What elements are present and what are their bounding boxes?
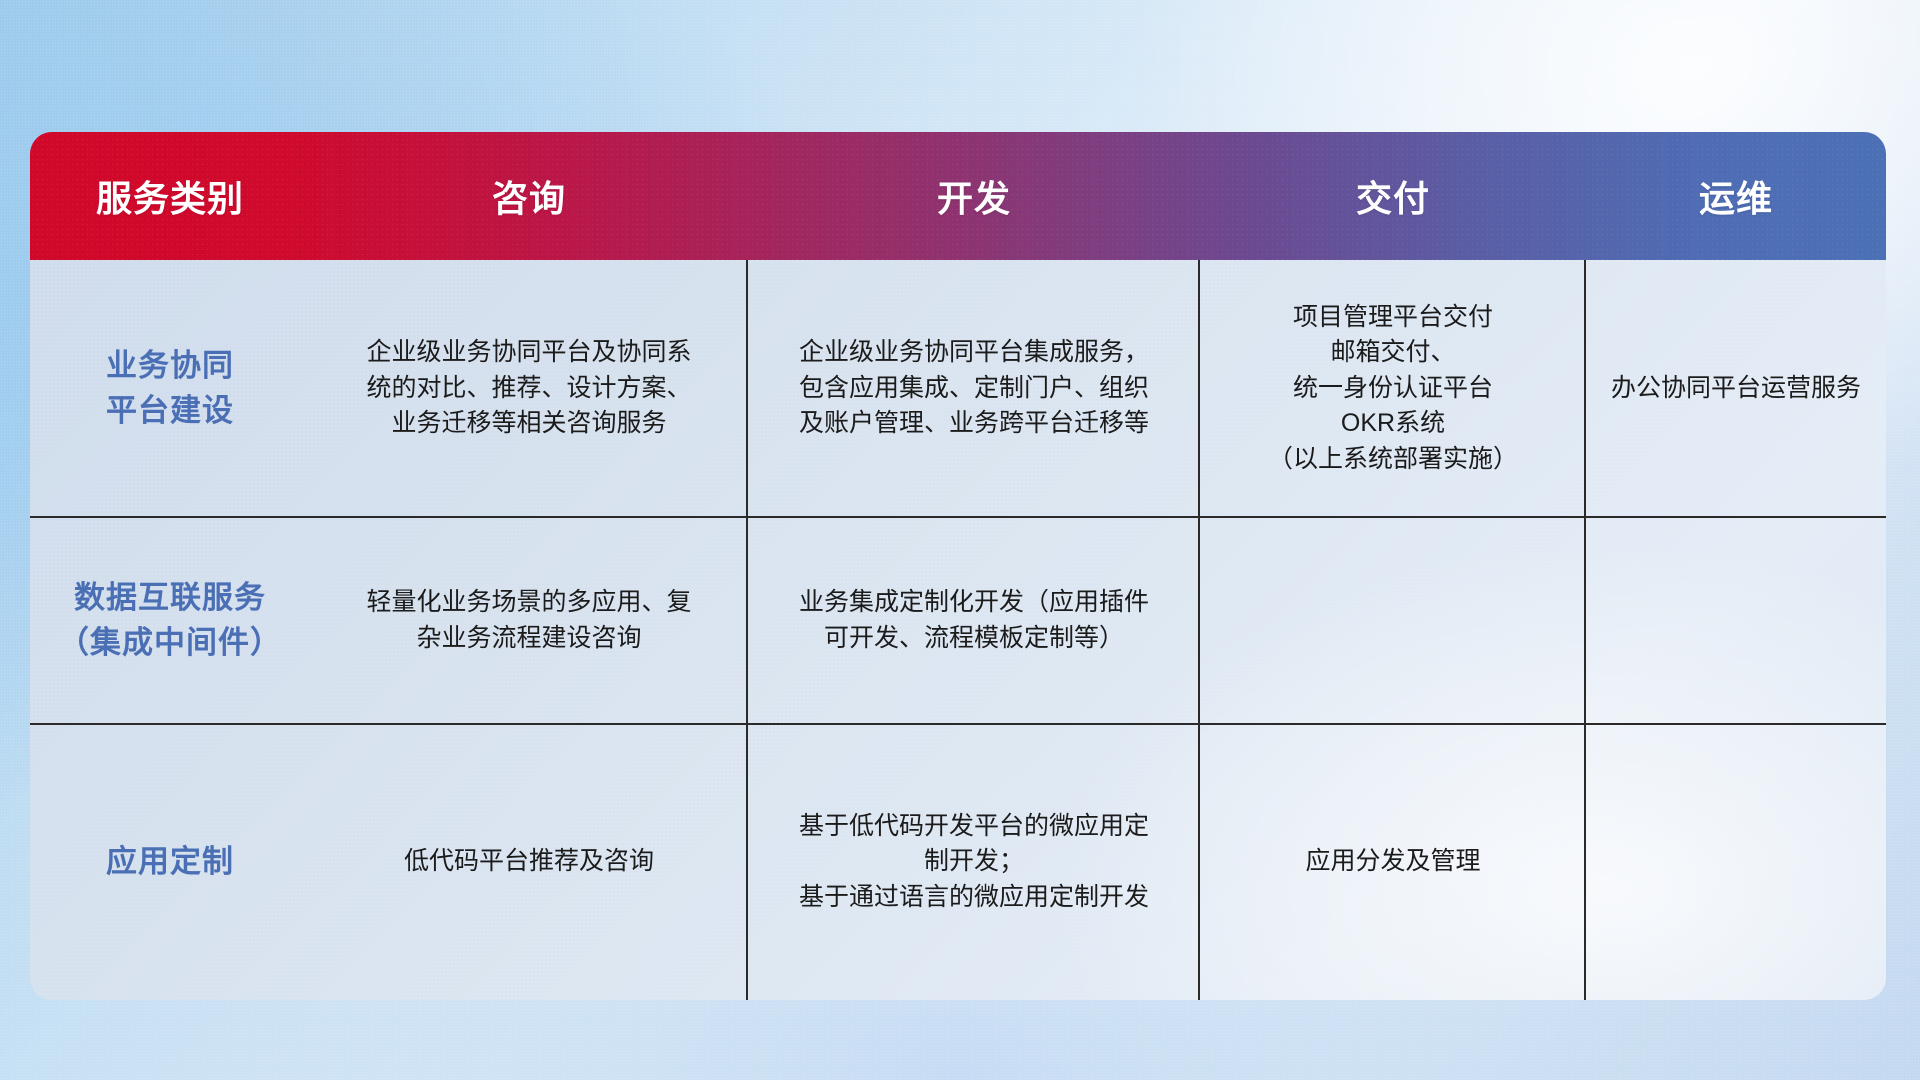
cell-operations — [1586, 517, 1886, 724]
table-row: 应用定制 低代码平台推荐及咨询 基于低代码开发平台的微应用定 制开发； 基于通过… — [30, 724, 1886, 1000]
cell-development: 基于低代码开发平台的微应用定 制开发； 基于通过语言的微应用定制开发 — [748, 724, 1200, 1000]
table-body: 业务协同 平台建设 企业级业务协同平台及协同系 统的对比、推荐、设计方案、 业务… — [30, 260, 1886, 1000]
table-header-row: 服务类别 咨询 开发 交付 运维 — [30, 132, 1886, 260]
cell-development: 业务集成定制化开发（应用插件 可开发、流程模板定制等） — [748, 517, 1200, 724]
column-divider-3 — [1584, 260, 1586, 1000]
table-row: 业务协同 平台建设 企业级业务协同平台及协同系 统的对比、推荐、设计方案、 业务… — [30, 260, 1886, 517]
cell-delivery: 应用分发及管理 — [1200, 724, 1586, 1000]
row-divider-2 — [30, 723, 1886, 725]
column-header-consulting: 咨询 — [310, 170, 748, 222]
column-divider-2 — [1198, 260, 1200, 1000]
row-label-text: 数据互联服务 （集成中间件） — [58, 576, 282, 666]
row-label-text: 应用定制 — [106, 840, 234, 885]
cell-consulting: 企业级业务协同平台及协同系 统的对比、推荐、设计方案、 业务迁移等相关咨询服务 — [310, 260, 748, 517]
row-label-cell: 业务协同 平台建设 — [30, 260, 310, 517]
column-header-delivery: 交付 — [1200, 170, 1586, 222]
table-row: 数据互联服务 （集成中间件） 轻量化业务场景的多应用、复 杂业务流程建设咨询 业… — [30, 517, 1886, 724]
cell-operations — [1586, 724, 1886, 1000]
cell-consulting: 低代码平台推荐及咨询 — [310, 724, 748, 1000]
cell-operations: 办公协同平台运营服务 — [1586, 260, 1886, 517]
cell-delivery — [1200, 517, 1586, 724]
service-matrix-table: 服务类别 咨询 开发 交付 运维 业务协同 平台建设 企业级业务协同平台及协同系… — [30, 132, 1886, 1000]
cell-development: 企业级业务协同平台集成服务， 包含应用集成、定制门户、组织 及账户管理、业务跨平… — [748, 260, 1200, 517]
cell-delivery: 项目管理平台交付 邮箱交付、 统一身份认证平台 OKR系统 （以上系统部署实施） — [1200, 260, 1586, 517]
column-header-development: 开发 — [748, 170, 1200, 222]
cell-consulting: 轻量化业务场景的多应用、复 杂业务流程建设咨询 — [310, 517, 748, 724]
row-divider-1 — [30, 516, 1886, 518]
column-divider-1 — [746, 260, 748, 1000]
column-header-service-category: 服务类别 — [30, 170, 310, 222]
column-header-operations: 运维 — [1586, 170, 1886, 222]
row-label-cell: 数据互联服务 （集成中间件） — [30, 517, 310, 724]
row-label-cell: 应用定制 — [30, 724, 310, 1000]
row-label-text: 业务协同 平台建设 — [106, 344, 234, 434]
